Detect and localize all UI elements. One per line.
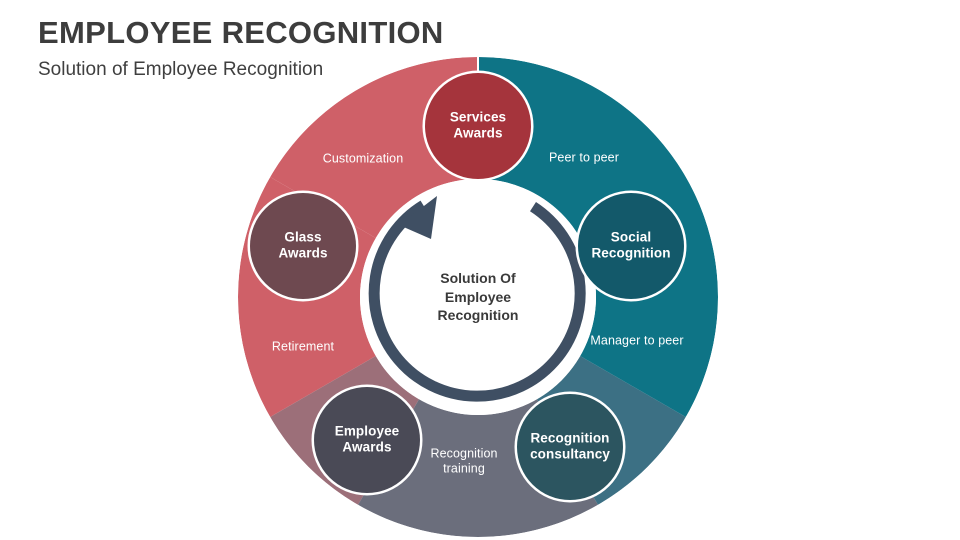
- node-services-awards-circle[interactable]: [425, 73, 531, 179]
- node-social-recognition-circle[interactable]: [578, 193, 684, 299]
- hub-disc: [360, 179, 596, 415]
- node-employee-awards-circle[interactable]: [314, 387, 420, 493]
- node-glass-awards-circle[interactable]: [250, 193, 356, 299]
- donut-chart-svg: [0, 0, 960, 540]
- node-recognition-consultancy-circle[interactable]: [517, 394, 623, 500]
- employee-recognition-donut-diagram: Peer to peer Manager to peer Recognition…: [0, 0, 960, 540]
